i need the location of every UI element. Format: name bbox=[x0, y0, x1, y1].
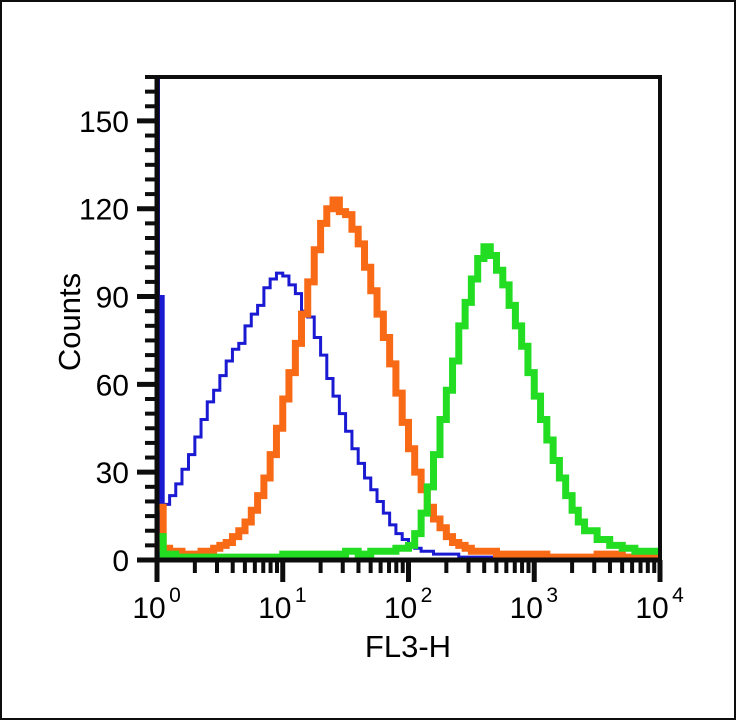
svg-text:3: 3 bbox=[546, 584, 558, 607]
series-orange-histogram bbox=[157, 200, 660, 557]
svg-text:10: 10 bbox=[384, 592, 417, 625]
series-green-histogram bbox=[157, 247, 660, 557]
x-tick-label: 101 bbox=[258, 584, 307, 625]
axis-layer bbox=[137, 77, 660, 582]
svg-text:1: 1 bbox=[295, 584, 307, 607]
svg-text:10: 10 bbox=[258, 592, 291, 625]
y-tick-label: 90 bbox=[96, 282, 129, 315]
svg-text:10: 10 bbox=[510, 592, 543, 625]
svg-text:10: 10 bbox=[635, 592, 668, 625]
y-tick-label: 0 bbox=[112, 545, 129, 578]
x-tick-label: 104 bbox=[635, 584, 684, 625]
y-tick-label: 120 bbox=[79, 194, 129, 227]
x-tick-label: 100 bbox=[132, 584, 181, 625]
x-tick-label: 102 bbox=[384, 584, 433, 625]
svg-text:4: 4 bbox=[672, 584, 684, 607]
x-axis-title: FL3-H bbox=[365, 629, 451, 664]
y-tick-label: 60 bbox=[96, 369, 129, 402]
svg-text:0: 0 bbox=[169, 584, 181, 607]
y-tick-label: 150 bbox=[79, 106, 129, 139]
histogram-plot: 0306090120150100101102103104 FL3-H Count… bbox=[2, 2, 736, 722]
y-axis-title: Counts bbox=[52, 273, 87, 371]
series-blue-histogram bbox=[156, 77, 660, 560]
svg-text:2: 2 bbox=[421, 584, 433, 607]
x-tick-label: 103 bbox=[510, 584, 559, 625]
y-tick-label: 30 bbox=[96, 457, 129, 490]
figure-container: 0306090120150100101102103104 FL3-H Count… bbox=[0, 0, 736, 720]
svg-text:10: 10 bbox=[132, 592, 165, 625]
histogram-curves-layer bbox=[156, 77, 660, 560]
